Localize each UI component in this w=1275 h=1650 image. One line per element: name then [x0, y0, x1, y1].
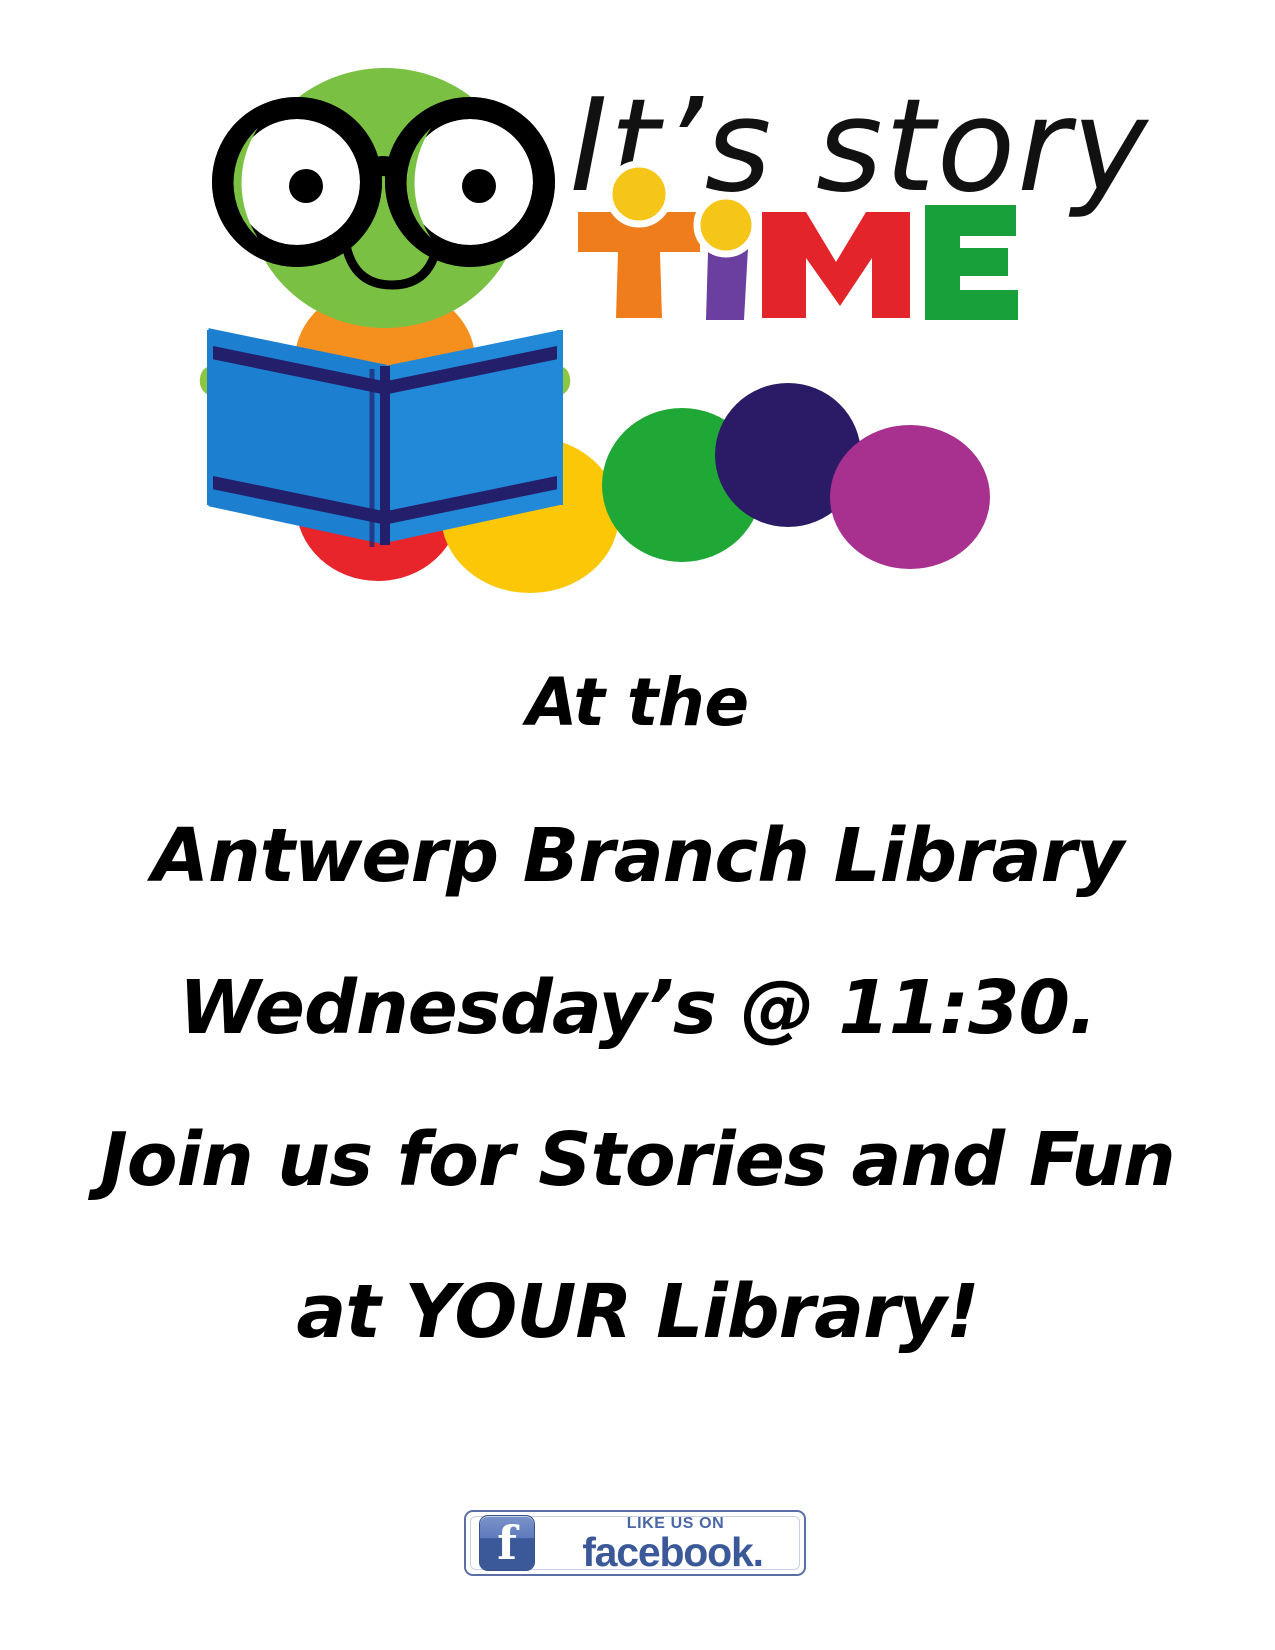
time-letter-E	[925, 205, 1018, 320]
facebook-like-badge[interactable]: f LIKE US ON facebook.	[464, 1510, 806, 1576]
time-letter-i	[697, 196, 755, 320]
pupil-right	[462, 169, 496, 203]
facebook-icon: f	[479, 1515, 535, 1571]
flyer-text-block: At the Antwerp Branch Library Wednesday’…	[0, 625, 1275, 1388]
clipart-svg: It’s story	[0, 0, 1275, 620]
segment-magenta	[830, 425, 990, 569]
facebook-wordmark: facebook.	[548, 1532, 797, 1572]
flyer-line-closing: at YOUR Library!	[0, 1236, 1275, 1388]
flyer-line-at-the: At the	[0, 625, 1275, 780]
pupil-left	[289, 169, 323, 203]
flyer-line-branch-name: Antwerp Branch Library	[0, 780, 1275, 932]
time-letter-M	[762, 212, 910, 318]
flyer-line-invitation: Join us for Stories and Fun	[0, 1084, 1275, 1236]
facebook-f-glyph: f	[480, 1520, 534, 1566]
story-time-clipart: It’s story	[0, 0, 1275, 620]
facebook-wordmark-group: LIKE US ON facebook.	[548, 1515, 797, 1572]
flyer-line-schedule: Wednesday’s @ 11:30.	[0, 932, 1275, 1084]
